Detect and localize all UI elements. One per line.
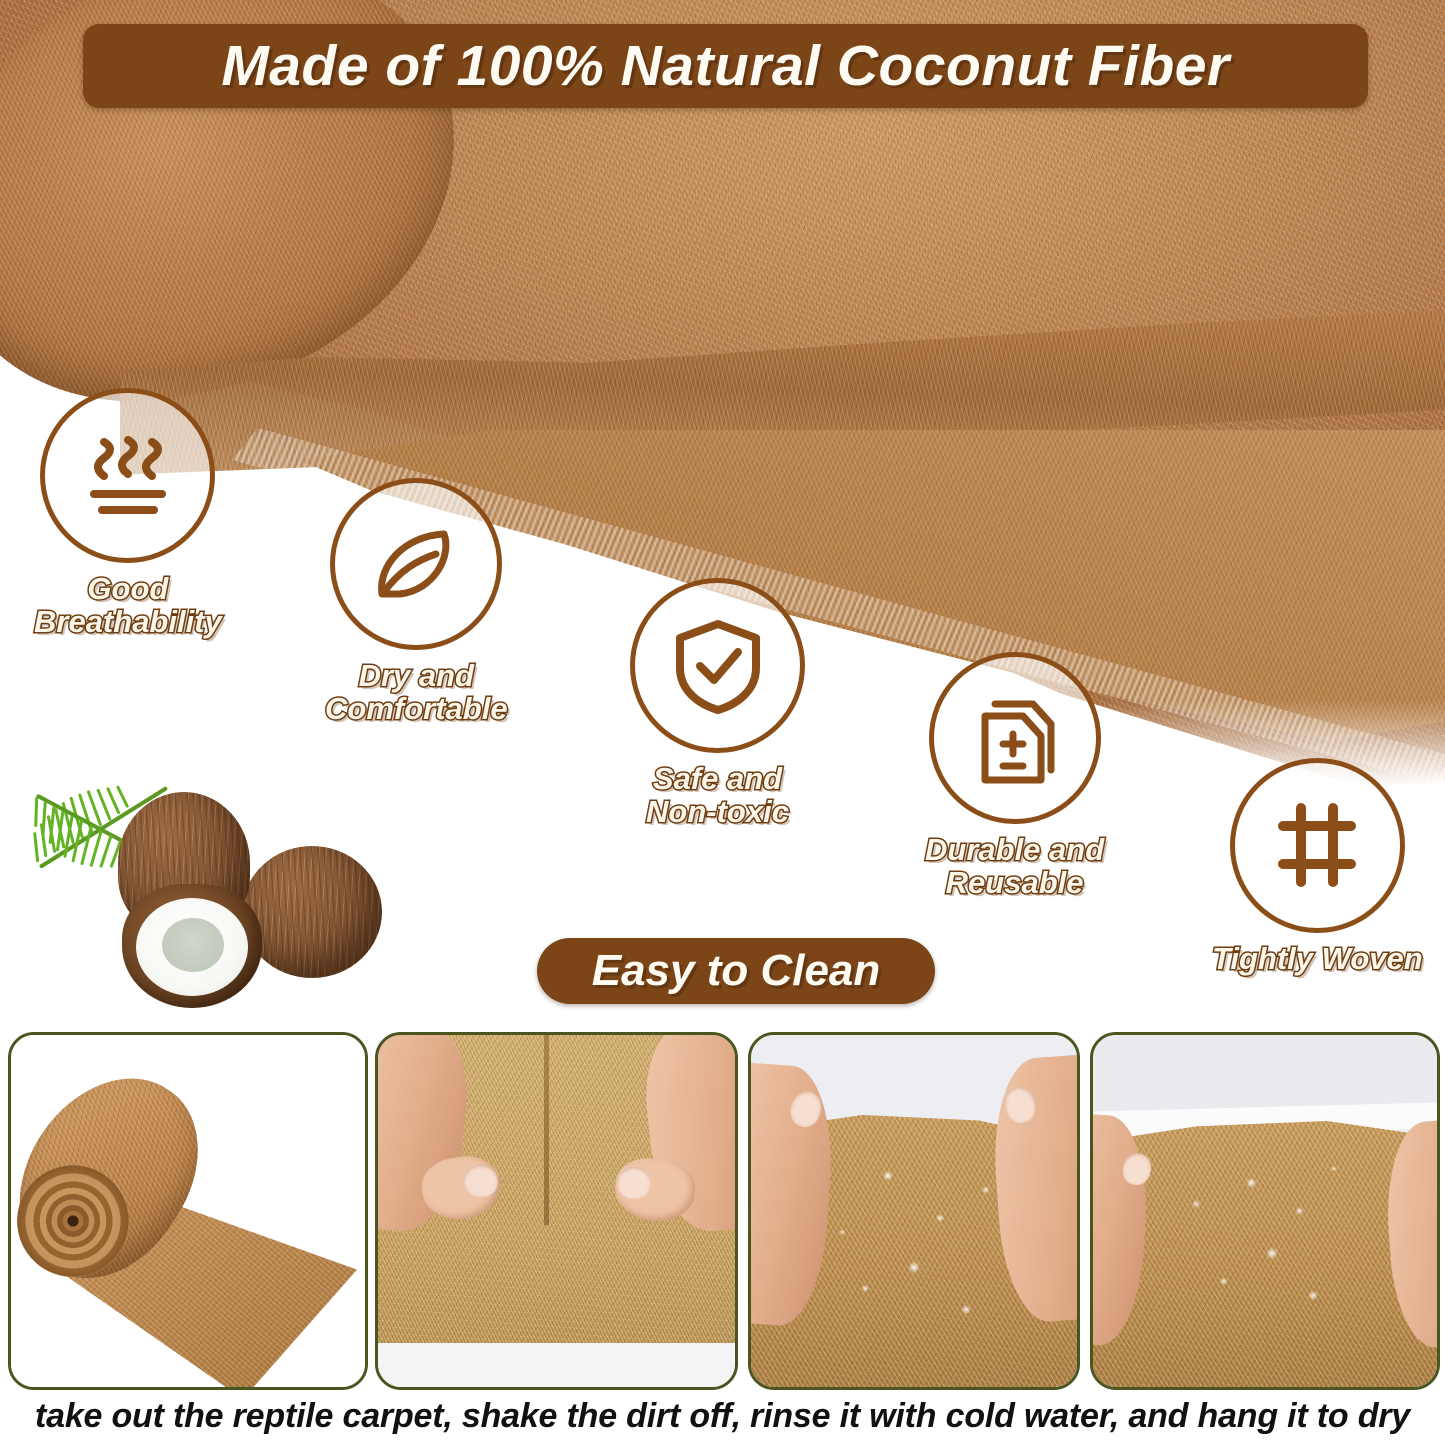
photo-strip xyxy=(0,1032,1445,1390)
panel-white-surface xyxy=(378,1343,735,1387)
breathability-icon-circle xyxy=(40,388,215,563)
care-instructions-caption: take out the reptile carpet, shake the d… xyxy=(0,1392,1445,1440)
photo-panel-hands-dry-mat xyxy=(1090,1032,1440,1390)
steam-lines-icon xyxy=(72,420,184,532)
weave-grid-icon xyxy=(1261,790,1373,902)
left-fingernail xyxy=(464,1165,498,1197)
feature-label: Tightly Woven xyxy=(1212,943,1423,976)
feature-label: Durable and Reusable xyxy=(925,834,1104,900)
feature-label: Good Breathability xyxy=(34,573,222,639)
title-banner: Made of 100% Natural Coconut Fiber xyxy=(83,24,1368,108)
photo-panel-rolled-mat xyxy=(8,1032,368,1390)
feature-durable-and-reusable: Durable and Reusable xyxy=(925,652,1104,900)
shield-check-icon-circle xyxy=(630,578,805,753)
coconut-illustration xyxy=(10,768,430,1018)
mat-pinch-crease xyxy=(544,1035,549,1225)
feature-tightly-woven: Tightly Woven xyxy=(1212,758,1423,976)
title-text: Made of 100% Natural Coconut Fiber xyxy=(221,33,1229,99)
coconut-flesh-cavity xyxy=(162,918,224,972)
leaf-icon-circle xyxy=(330,478,502,650)
water-droplets xyxy=(751,1035,1077,1387)
documents-icon-circle xyxy=(929,652,1101,824)
feature-safe-and-non-toxic: Safe and Non-toxic xyxy=(630,578,805,829)
right-fingernail xyxy=(617,1167,651,1199)
feature-dry-and-comfortable: Dry and Comfortable xyxy=(325,478,508,726)
feature-label: Safe and Non-toxic xyxy=(646,763,789,829)
caption-text: take out the reptile carpet, shake the d… xyxy=(35,1397,1410,1436)
water-droplets xyxy=(1093,1035,1437,1387)
photo-panel-hands-wet-mat xyxy=(748,1032,1080,1390)
shield-check-icon xyxy=(662,610,774,722)
photo-panel-hands-folding xyxy=(375,1032,738,1390)
feature-good-breathability: Good Breathability xyxy=(34,388,222,639)
weave-grid-icon-circle xyxy=(1230,758,1405,933)
coconut-whole xyxy=(242,846,382,978)
easy-to-clean-text: Easy to Clean xyxy=(592,946,881,996)
easy-to-clean-banner: Easy to Clean xyxy=(537,938,935,1004)
leaf-icon xyxy=(360,508,472,620)
feature-label: Dry and Comfortable xyxy=(325,660,508,726)
documents-plus-minus-icon xyxy=(959,682,1071,794)
